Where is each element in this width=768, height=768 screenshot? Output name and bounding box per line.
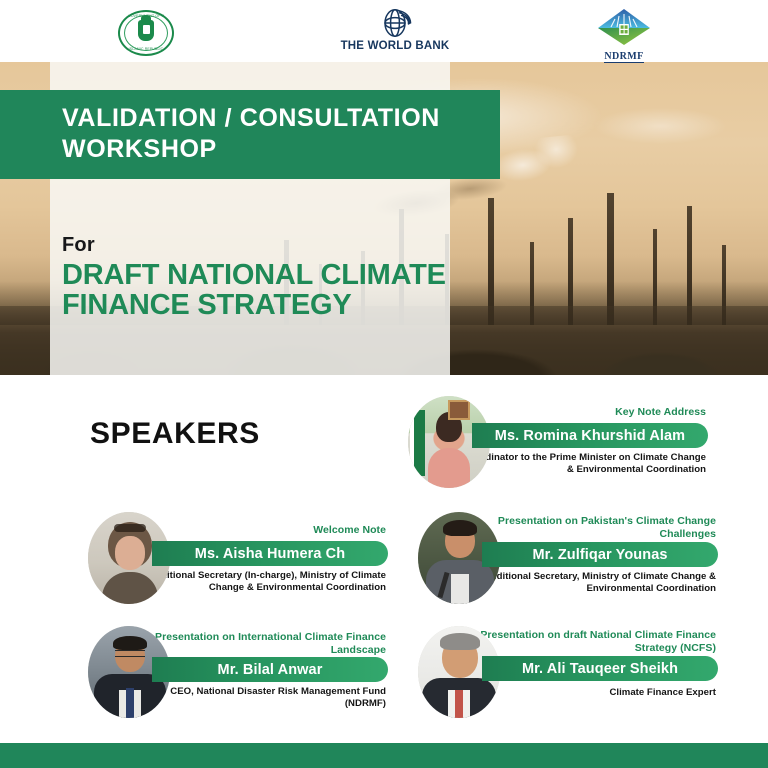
speaker-role: Presentation on draft National Climate F… (466, 629, 716, 655)
speaker-name-pill: Mr. Ali Tauqeer Sheikh (482, 656, 718, 681)
hero-banner: VALIDATION / CONSULTATION WORKSHOP For D… (0, 62, 768, 375)
avatar-tie (455, 690, 463, 718)
speaker-name: Mr. Ali Tauqeer Sheikh (522, 661, 678, 677)
speakers-section-title: SPEAKERS (90, 417, 260, 451)
speaker-role: Presentation on International Climate Fi… (136, 631, 386, 657)
avatar-shirt (451, 574, 469, 604)
speaker-name: Mr. Bilal Anwar (218, 662, 323, 678)
emblem-arc-bottom-text: ISLAMIC REPUBLIC (128, 47, 164, 52)
speaker-card-aisha-humera-ch: Welcome Note Ms. Aisha Humera Ch Additio… (88, 512, 388, 608)
speaker-name-pill: Ms. Romina Khurshid Alam (472, 423, 708, 448)
speaker-affiliation: Coordinator to the Prime Minister on Cli… (454, 452, 706, 476)
wall-frame-prop (448, 400, 470, 420)
ndrmf-logo: NDRMF (592, 8, 656, 60)
ndrmf-diamond-icon (595, 8, 653, 46)
speaker-card-bilal-anwar: Presentation on International Climate Fi… (88, 626, 388, 722)
sunglasses-prop (114, 524, 146, 532)
speaker-affiliation: Climate Finance Expert (464, 687, 716, 699)
speaker-affiliation: Additional Secretary (In-charge), Minist… (134, 570, 386, 594)
speaker-role: Welcome Note (136, 524, 386, 537)
speaker-card-zulfiqar-younas: Presentation on Pakistan's Climate Chang… (418, 512, 718, 608)
footer-green-bar (0, 743, 768, 768)
speaker-name: Ms. Romina Khurshid Alam (495, 428, 685, 444)
speaker-name-pill: Ms. Aisha Humera Ch (152, 541, 388, 566)
speaker-name: Mr. Zulfiqar Younas (532, 547, 667, 563)
speaker-affiliation: CEO, National Disaster Risk Management F… (134, 686, 386, 710)
workshop-title: VALIDATION / CONSULTATION WORKSHOP (62, 103, 500, 164)
pakistan-flag-prop (410, 410, 425, 476)
speaker-name-pill: Mr. Zulfiqar Younas (482, 542, 718, 567)
speaker-card-romina-khurshid-alam: Key Note Address Ms. Romina Khurshid Ala… (408, 396, 708, 492)
logo-header: GOVERNMENT OF PAKISTAN ISLAMIC REPUBLIC (0, 0, 768, 62)
workshop-title-bar: VALIDATION / CONSULTATION WORKSHOP (0, 90, 500, 179)
speaker-name: Ms. Aisha Humera Ch (195, 546, 345, 562)
emblem-crest-shape (138, 20, 154, 41)
for-label: For (62, 234, 95, 257)
event-poster: GOVERNMENT OF PAKISTAN ISLAMIC REPUBLIC (0, 0, 768, 768)
speaker-role: Key Note Address (456, 406, 706, 419)
avatar-tie (126, 688, 134, 718)
world-bank-logo: THE WORLD BANK (340, 8, 450, 58)
speaker-card-ali-tauqeer-sheikh: Presentation on draft National Climate F… (418, 626, 718, 722)
speaker-role: Presentation on Pakistan's Climate Chang… (466, 515, 716, 541)
eyeglasses-prop (115, 650, 145, 657)
government-of-pakistan-emblem-icon: GOVERNMENT OF PAKISTAN ISLAMIC REPUBLIC (118, 10, 174, 56)
strategy-headline: DRAFT NATIONAL CLIMATE FINANCE STRATEGY (62, 260, 452, 320)
world-bank-logo-label: THE WORLD BANK (340, 40, 450, 52)
speaker-name-pill: Mr. Bilal Anwar (152, 657, 388, 682)
world-bank-globe-icon (376, 8, 414, 38)
speaker-affiliation: Additional Secretary, Ministry of Climat… (464, 571, 716, 595)
ndrmf-logo-label: NDRMF (604, 51, 643, 63)
